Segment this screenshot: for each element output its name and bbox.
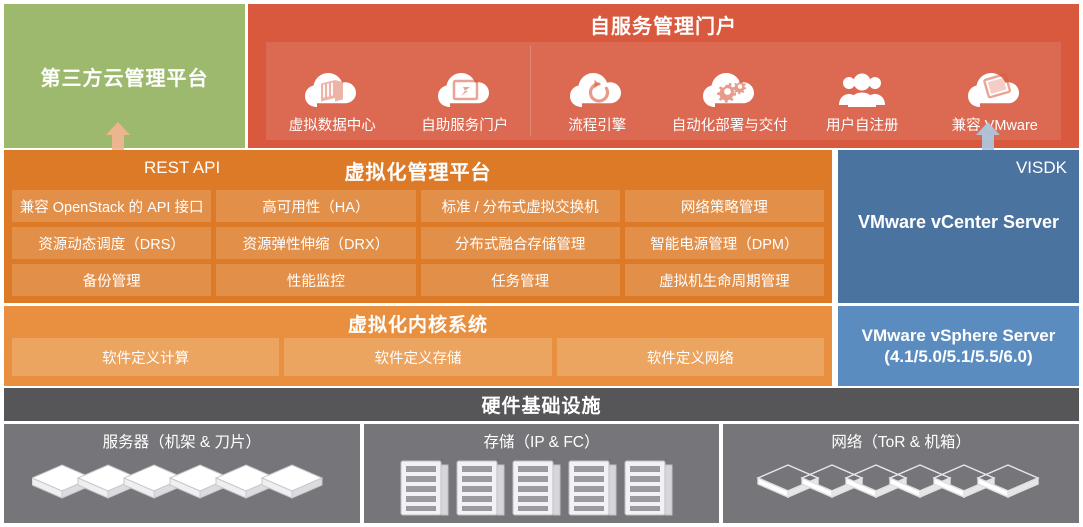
kernel-cell[interactable]: 软件定义存储: [284, 338, 551, 376]
feature-cell[interactable]: 备份管理: [12, 264, 211, 296]
portal-tile-label: 用户自注册: [826, 119, 899, 135]
hardware-band: 硬件基础设施 服务器（机架 & 刀片）: [4, 388, 1079, 523]
vmware-vsphere-versions: (4.1/5.0/5.1/5.5/6.0): [884, 346, 1032, 367]
portal-tile-automated-deployment[interactable]: 自动化部署与交付: [664, 42, 797, 140]
virtualization-kernel-title: 虚拟化内核系统: [4, 310, 832, 337]
cloud-vmware-icon: [964, 61, 1026, 119]
visdk-label: VISDK: [1016, 158, 1067, 178]
self-service-portal-title: 自服务管理门户: [248, 10, 1079, 39]
hardware-title: 硬件基础设施: [481, 391, 601, 418]
kernel-cell[interactable]: 软件定义计算: [12, 338, 279, 376]
hardware-column-label: 服务器（机架 & 刀片）: [103, 430, 261, 452]
feature-cell[interactable]: 智能电源管理（DPM）: [625, 227, 824, 259]
cloud-workflow-icon: [566, 61, 628, 119]
feature-cell[interactable]: 高可用性（HA）: [216, 190, 415, 222]
portal-tile-label: 虚拟数据中心: [289, 119, 376, 135]
virtualization-header: REST API 虚拟化管理平台: [4, 150, 832, 190]
portal-tile-self-service-portal[interactable]: 自助服务门户: [399, 42, 532, 140]
portal-tile-workflow-engine[interactable]: 流程引擎: [531, 42, 664, 140]
hardware-column-network[interactable]: 网络（ToR & 机箱）: [723, 424, 1079, 523]
hardware-columns: 服务器（机架 & 刀片）: [4, 424, 1079, 523]
hardware-column-storage[interactable]: 存储（IP & FC）: [364, 424, 720, 523]
portal-tile-label: 自动化部署与交付: [672, 119, 788, 135]
third-party-cloud-title: 第三方云管理平台: [41, 62, 209, 91]
vmware-vcenter-label: VMware vCenter Server: [838, 212, 1079, 233]
feature-cell[interactable]: 分布式融合存储管理: [421, 227, 620, 259]
kernel-feature-grid: 软件定义计算 软件定义存储 软件定义网络: [12, 338, 824, 376]
hardware-column-label: 网络（ToR & 机箱）: [831, 430, 971, 452]
hardware-header: 硬件基础设施: [4, 388, 1079, 421]
vmware-vsphere-label: VMware vSphere Server: [862, 325, 1056, 346]
hardware-column-label: 存储（IP & FC）: [484, 430, 600, 452]
portal-tile-label: 流程引擎: [568, 119, 626, 135]
portal-tile-row: 虚拟数据中心 自助服务门户: [266, 42, 1061, 140]
feature-cell[interactable]: 标准 / 分布式虚拟交换机: [421, 190, 620, 222]
feature-cell[interactable]: 性能监控: [216, 264, 415, 296]
feature-cell[interactable]: 任务管理: [421, 264, 620, 296]
feature-cell[interactable]: 虚拟机生命周期管理: [625, 264, 824, 296]
storage-rack-icon: [397, 452, 687, 523]
cloud-gears-icon: [699, 61, 761, 119]
virtualization-feature-grid: 兼容 OpenStack 的 API 接口 高可用性（HA） 标准 / 分布式虚…: [12, 190, 824, 296]
middle-band: REST API 虚拟化管理平台 兼容 OpenStack 的 API 接口 高…: [4, 150, 1079, 386]
virtualization-kernel-panel: 虚拟化内核系统 软件定义计算 软件定义存储 软件定义网络: [4, 306, 832, 386]
feature-cell[interactable]: 资源弹性伸缩（DRX）: [216, 227, 415, 259]
portal-tile-virtual-datacenter[interactable]: 虚拟数据中心: [266, 42, 399, 140]
feature-cell[interactable]: 兼容 OpenStack 的 API 接口: [12, 190, 211, 222]
feature-cell[interactable]: 网络策略管理: [625, 190, 824, 222]
users-icon: [831, 61, 893, 119]
server-stack-icon: [32, 452, 332, 523]
architecture-diagram: 第三方云管理平台 自服务管理门户: [0, 0, 1083, 527]
virtualization-management-panel: REST API 虚拟化管理平台 兼容 OpenStack 的 API 接口 高…: [4, 150, 832, 303]
kernel-cell[interactable]: 软件定义网络: [557, 338, 824, 376]
portal-tile-label: 自助服务门户: [421, 119, 508, 135]
self-service-portal-panel: 自服务管理门户: [248, 4, 1079, 148]
hardware-column-servers[interactable]: 服务器（机架 & 刀片）: [4, 424, 360, 523]
portal-tile-user-self-registration[interactable]: 用户自注册: [796, 42, 929, 140]
feature-cell[interactable]: 资源动态调度（DRS）: [12, 227, 211, 259]
top-band: 第三方云管理平台 自服务管理门户: [4, 4, 1079, 148]
vmware-vcenter-panel[interactable]: VISDK VMware vCenter Server: [838, 150, 1079, 303]
cloud-portal-icon: [434, 61, 496, 119]
cloud-datacenter-icon: [301, 61, 363, 119]
virtualization-title: 虚拟化管理平台: [4, 156, 832, 185]
network-switch-icon: [756, 452, 1046, 523]
vmware-vsphere-panel[interactable]: VMware vSphere Server (4.1/5.0/5.1/5.5/6…: [838, 306, 1079, 386]
